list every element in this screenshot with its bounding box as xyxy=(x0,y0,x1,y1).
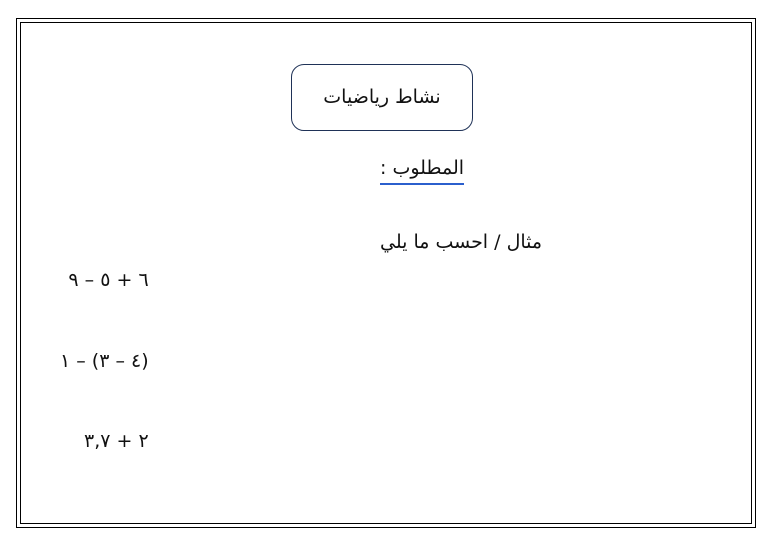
slide-canvas: نشاط رياضيات المطلوب : مثال / احسب ما يل… xyxy=(0,0,775,549)
slide-title: نشاط رياضيات xyxy=(323,86,440,109)
equation-list: ٦ + ٥ – ٩ (٤ – ٣) – ١ ٢ + ٣,٧ xyxy=(60,268,149,454)
requirement-label: المطلوب : xyxy=(380,156,464,185)
requirement-row: المطلوب : xyxy=(380,156,710,185)
title-box: نشاط رياضيات xyxy=(291,64,473,131)
equation-item: ٦ + ٥ – ٩ xyxy=(60,268,149,293)
equation-item: ٢ + ٣,٧ xyxy=(60,429,149,454)
example-label: مثال / احسب ما يلي xyxy=(380,230,542,256)
example-row: مثال / احسب ما يلي xyxy=(380,230,710,256)
equation-item: (٤ – ٣) – ١ xyxy=(60,349,149,374)
instructions-column: المطلوب : مثال / احسب ما يلي xyxy=(380,156,710,185)
